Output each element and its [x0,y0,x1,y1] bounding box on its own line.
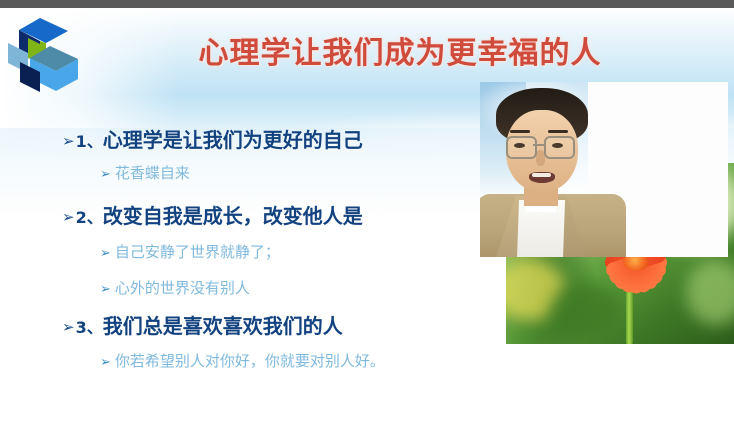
sub-bullet-1-1-text: 花香蝶自来 [115,164,190,182]
bullet-2-number: 2、 [76,208,103,227]
sub-bullet-arrow-icon: ➢ [100,167,111,182]
sub-bullet-3-1: ➢你若希望别人对你好，你就要对别人好。 [100,350,385,371]
bullet-1-number: 1、 [76,132,103,151]
speaker-eyebrow-right [548,130,568,133]
bullet-3-number: 3、 [76,318,103,337]
bullet-2: ➢2、改变自我是成长，改变他人是 [62,200,363,229]
isometric-blocks-logo [6,16,84,96]
bullet-3-text: 我们总是喜欢喜欢我们的人 [103,314,343,338]
bullet-2-text: 改变自我是成长，改变他人是 [103,204,363,228]
bullet-1-text: 心理学是让我们为更好的自己 [103,128,363,152]
speaker-eye-left [514,143,525,148]
speaker-video-overlay[interactable] [480,82,728,257]
bullet-arrow-icon: ➢ [62,132,75,150]
bullet-arrow-icon: ➢ [62,208,75,226]
bullet-3: ➢3、我们总是喜欢喜欢我们的人 [62,310,343,339]
sub-bullet-2-2-text: 心外的世界没有别人 [115,279,250,297]
bullet-1: ➢1、心理学是让我们为更好的自己 [62,124,363,153]
sub-bullet-arrow-icon: ➢ [100,282,111,297]
sub-bullet-2-1-text: 自己安静了世界就静了； [115,243,280,261]
sub-bullet-3-1-text: 你若希望别人对你好，你就要对别人好。 [115,352,385,370]
sub-bullet-arrow-icon: ➢ [100,355,111,370]
glasses-bridge [533,144,544,146]
speaker-teeth [532,173,551,177]
window-top-bar [0,0,734,8]
sub-bullet-arrow-icon: ➢ [100,246,111,261]
logo-icon [6,16,84,96]
bullet-arrow-icon: ➢ [62,318,75,336]
sub-bullet-2-1: ➢自己安静了世界就静了； [100,241,280,262]
speaker-nose [536,150,545,166]
slide-stage: 心理学让我们成为更幸福的人 ➢1、心理学是让我们为更好的自己 ➢花香蝶自来 ➢2… [0,0,734,438]
speaker-eyebrow-left [510,130,530,133]
sub-bullet-1-1: ➢花香蝶自来 [100,162,190,183]
speaker-eye-right [552,143,563,148]
speaker-head [496,88,588,192]
sub-bullet-2-2: ➢心外的世界没有别人 [100,277,250,298]
slide-title: 心理学让我们成为更幸福的人 [160,28,640,72]
